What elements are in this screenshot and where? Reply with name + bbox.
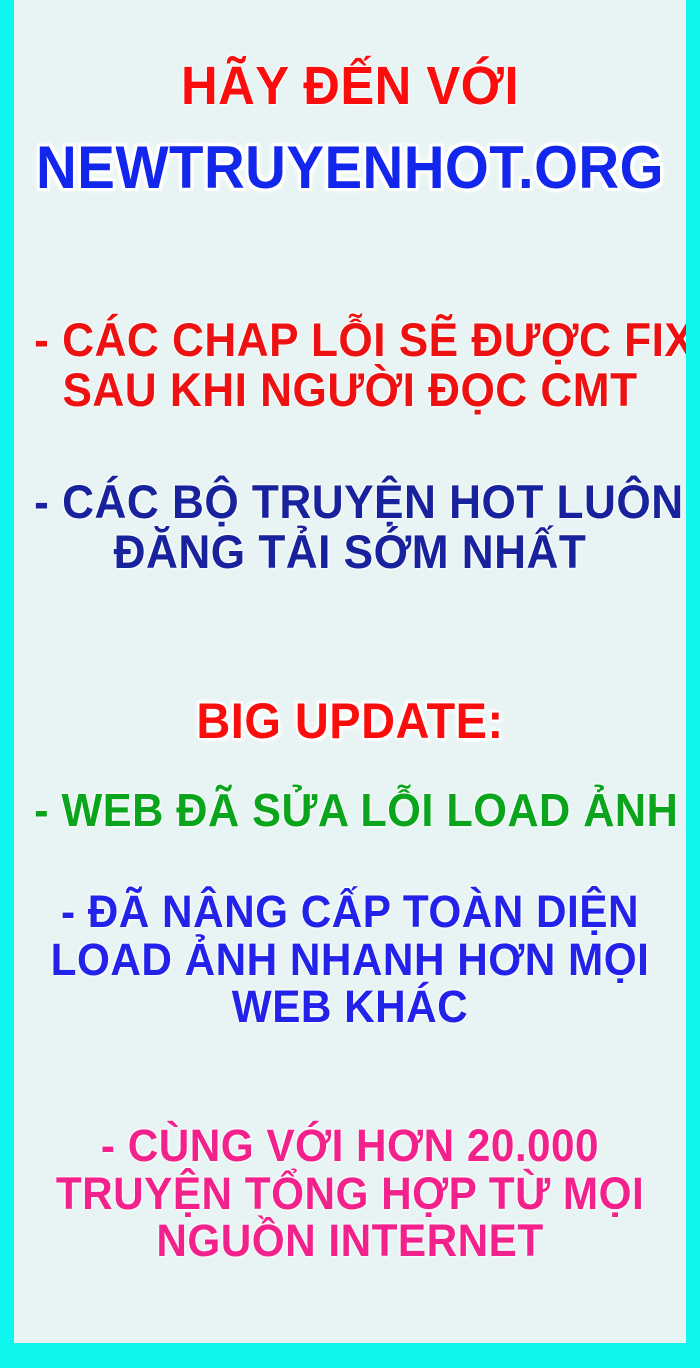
big-update-heading: BIG UPDATE: (14, 695, 686, 748)
bullet-chap-fix-line-1: - CÁC CHAP LỖI SẼ ĐƯỢC FIX (34, 315, 666, 365)
big-update-heading-text: BIG UPDATE: (34, 695, 666, 748)
promo-poster: HÃY ĐẾN VỚI NEWTRUYENHOT.ORG - CÁC CHAP … (0, 0, 700, 1368)
update-story-count-line-3: NGUỒN INTERNET (34, 1217, 666, 1265)
bullet-chap-fix-line-2: SAU KHI NGƯỜI ĐỌC CMT (34, 365, 666, 415)
header-tagline-text: HÃY ĐẾN VỚI (34, 58, 666, 115)
update-full-upgrade: - ĐÃ NÂNG CẤP TOÀN DIỆN LOAD ẢNH NHANH H… (14, 888, 686, 1031)
update-full-upgrade-line-3: WEB KHÁC (34, 983, 666, 1031)
bullet-chap-fix: - CÁC CHAP LỖI SẼ ĐƯỢC FIX SAU KHI NGƯỜI… (14, 315, 686, 415)
bullet-hot-series-line-1: - CÁC BỘ TRUYỆN HOT LUÔN (34, 477, 666, 527)
bullet-hot-series: - CÁC BỘ TRUYỆN HOT LUÔN ĐĂNG TẢI SỚM NH… (14, 477, 686, 577)
bullet-hot-series-line-2: ĐĂNG TẢI SỚM NHẤT (34, 527, 666, 577)
update-story-count-line-1: - CÙNG VỚI HƠN 20.000 (34, 1122, 666, 1170)
update-story-count: - CÙNG VỚI HƠN 20.000 TRUYỆN TỔNG HỢP TỪ… (14, 1122, 686, 1265)
update-story-count-line-2: TRUYỆN TỔNG HỢP TỪ MỌI (34, 1170, 666, 1218)
site-domain-text: NEWTRUYENHOT.ORG (34, 136, 666, 200)
bottom-cyan-band (0, 1343, 700, 1368)
poster-panel: HÃY ĐẾN VỚI NEWTRUYENHOT.ORG - CÁC CHAP … (14, 0, 686, 1343)
header-tagline: HÃY ĐẾN VỚI (14, 58, 686, 115)
site-domain[interactable]: NEWTRUYENHOT.ORG (14, 136, 686, 200)
update-full-upgrade-line-1: - ĐÃ NÂNG CẤP TOÀN DIỆN (34, 888, 666, 936)
update-image-load-fix: - WEB ĐÃ SỬA LỖI LOAD ẢNH (14, 786, 686, 835)
update-image-load-fix-line-1: - WEB ĐÃ SỬA LỖI LOAD ẢNH (34, 786, 666, 835)
update-full-upgrade-line-2: LOAD ẢNH NHANH HƠN MỌI (34, 936, 666, 984)
